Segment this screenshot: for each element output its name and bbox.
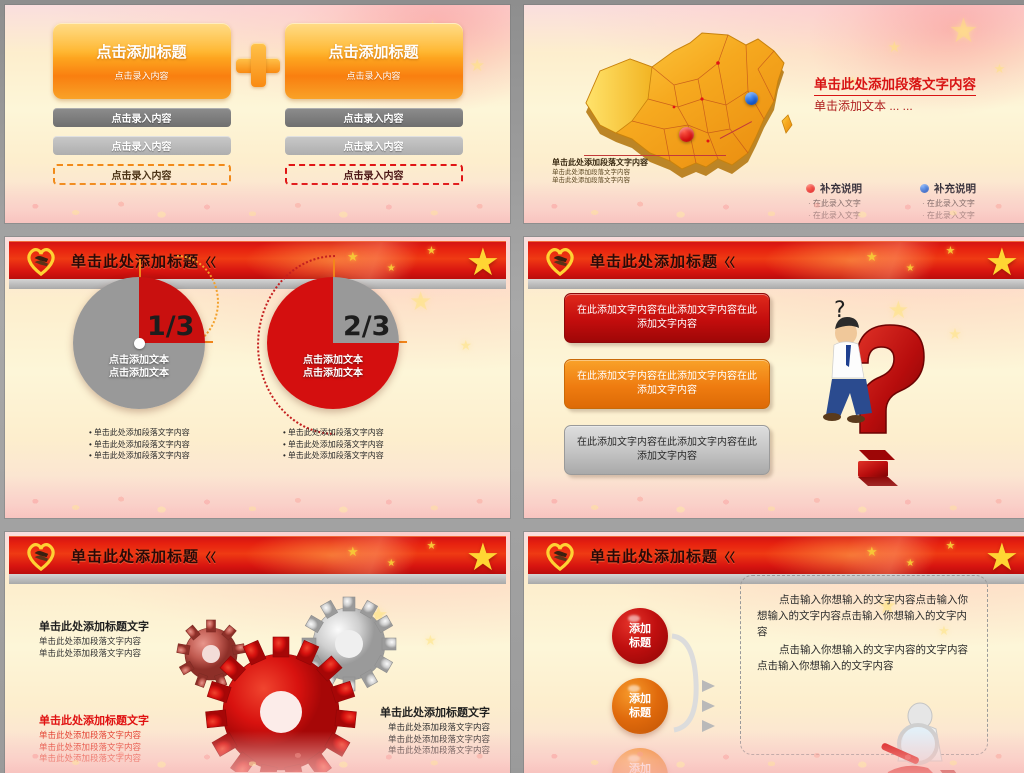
plus-icon: [236, 43, 280, 87]
column-subtitle: 点击录入内容: [114, 69, 168, 82]
question-row-3[interactable]: 在此添加文字内容在此添加文字内容在此添加文字内容: [564, 425, 770, 475]
blue-map-marker[interactable]: [745, 92, 758, 105]
column-row-2[interactable]: 点击录入内容: [53, 136, 231, 155]
pie-label: 点击添加文本 点击添加文本: [73, 354, 205, 380]
note-paragraph-2: 点击输入你想输入的文字内容的文字内容点击输入你想输入的文字内容: [757, 642, 971, 674]
pie-label: 点击添加文本 点击添加文本: [267, 354, 399, 380]
gears-icon: [153, 592, 413, 772]
banner-star-icon: ★: [985, 244, 1019, 279]
connector-curve: [670, 628, 710, 738]
banner-underbar: [9, 574, 506, 584]
businessman-on-question-mark-icon: ?: [816, 295, 966, 495]
pie-group-1[interactable]: 点击添加文本 点击添加文本 1/3 单击此处添加段落文字内容 单击此处添加段落文…: [73, 277, 205, 409]
question-text-rows: 在此添加文字内容在此添加文字内容在此添加文字内容 在此添加文字内容在此添加文字内…: [564, 293, 770, 491]
compare-column-left[interactable]: 点击添加标题 点击录入内容 点击录入内容 点击录入内容 点击录入内容: [53, 23, 231, 185]
legend-group-blue: 补充说明 在此录入文字 在此录入文字: [920, 181, 976, 222]
legend-item: 在此录入文字: [922, 210, 976, 221]
column-row-1[interactable]: 点击录入内容: [285, 108, 463, 127]
slide-deck-grid: ★ ★ ★ 点击添加标题 点击录入内容 点击录入内容 点击录入内容 点击录入内容…: [0, 0, 1024, 768]
legend-bullet-blue: [920, 184, 929, 193]
gear-text-block-top-left: 单击此处添加标题文字 单击此处添加段落文字内容 单击此处添加段落文字内容: [39, 618, 149, 659]
pie-bullet-list: 单击此处添加段落文字内容 单击此处添加段落文字内容 单击此处添加段落文字内容: [89, 427, 190, 462]
legend-item: 在此录入文字: [808, 210, 862, 221]
compare-column-right[interactable]: 点击添加标题 点击录入内容 点击录入内容 点击录入内容 点击录入内容: [285, 23, 463, 185]
map-callout-title: 单击此处添加段落文字内容: [552, 157, 648, 168]
note-paragraph-1: 点击输入你想输入的文字内容点击输入你想输入的文字内容点击输入你想输入的文字内容: [757, 592, 971, 640]
heart-hand-icon: [544, 540, 576, 571]
question-row-1[interactable]: 在此添加文字内容在此添加文字内容在此添加文字内容: [564, 293, 770, 343]
pie-bullet-list: 单击此处添加段落文字内容 单击此处添加段落文字内容 单击此处添加段落文字内容: [283, 427, 384, 462]
banner-underbar: [528, 279, 1024, 289]
column-header-right[interactable]: 点击添加标题 点击录入内容: [285, 23, 463, 99]
red-map-marker[interactable]: [679, 127, 694, 142]
map-headline: 单击此处添加段落文字内容: [814, 73, 976, 96]
banner-title: 单击此处添加标题〈〈: [590, 545, 734, 566]
pie-hub: [328, 338, 339, 349]
slide-china-map[interactable]: ★ ★ ★ ★: [524, 5, 1024, 223]
question-row-2[interactable]: 在此添加文字内容在此添加文字内容在此添加文字内容: [564, 359, 770, 409]
slide-banner: ★ ★ ★ ★ 单击此处添加标题〈〈: [9, 536, 506, 574]
map-legend: 补充说明 在此录入文字 在此录入文字 补充说明 在此录入文字 在此录入文字: [806, 181, 976, 222]
map-callout-body: 单击此处添加段落文字内容 单击此处添加段落文字内容: [552, 169, 630, 185]
pie-hub: [134, 338, 145, 349]
column-row-2[interactable]: 点击录入内容: [285, 136, 463, 155]
magnifier-person-icon: [874, 700, 984, 773]
slide-gears[interactable]: ★ ★ ★ ★ 单击此处添加标题〈〈 ★ ★: [5, 532, 510, 773]
circle-badge-2[interactable]: 添加标题: [612, 678, 668, 734]
map-subline: 单击添加文本 ... ...: [814, 97, 913, 114]
pie-fraction-value: 1/3: [147, 311, 194, 342]
compare-columns: 点击添加标题 点击录入内容 点击录入内容 点击录入内容 点击录入内容 点击添加标…: [45, 23, 470, 185]
gear-text-block-bottom-left: 单击此处添加标题文字 单击此处添加段落文字内容 单击此处添加段落文字内容 单击此…: [39, 712, 149, 765]
callout-leader-line: [584, 155, 726, 156]
slide-two-column-compare[interactable]: ★ ★ ★ 点击添加标题 点击录入内容 点击录入内容 点击录入内容 点击录入内容…: [5, 5, 510, 223]
legend-item: 在此录入文字: [808, 198, 862, 209]
banner-title: 单击此处添加标题〈〈: [590, 250, 734, 271]
legend-item: 在此录入文字: [922, 198, 976, 209]
pie-fraction-value: 2/3: [343, 311, 390, 342]
column-row-3[interactable]: 点击录入内容: [285, 164, 463, 185]
gear-text-block-bottom-right: 单击此处添加标题文字 单击此处添加段落文字内容 单击此处添加段落文字内容 单击此…: [380, 704, 490, 757]
heart-hand-icon: [25, 540, 57, 571]
circle-label: 添加标题: [629, 622, 651, 650]
pie-group-2[interactable]: 点击添加文本 点击添加文本 2/3 单击此处添加段落文字内容 单击此处添加段落文…: [267, 277, 399, 409]
legend-title: 补充说明: [806, 181, 862, 196]
legend-group-red: 补充说明 在此录入文字 在此录入文字: [806, 181, 862, 222]
circle-badge-3[interactable]: 添加标题: [612, 748, 668, 773]
banner-star-icon: ★: [466, 539, 500, 574]
slide-circles-note[interactable]: ★ ★ ★ ★ 单击此处添加标题〈〈 ★ ★ 添加标题 添加标题: [524, 532, 1024, 773]
slide-banner: ★ ★ ★ ★ 单击此处添加标题〈〈: [528, 241, 1024, 279]
column-title: 点击添加标题: [96, 41, 186, 62]
heart-hand-icon: [544, 245, 576, 276]
slide-question-mark[interactable]: ★ ★ ★ ★ 单击此处添加标题〈〈 ★ ★ ★ 在此添加文字内容在此添加文字内…: [524, 237, 1024, 518]
banner-title: 单击此处添加标题〈〈: [71, 545, 215, 566]
column-subtitle: 点击录入内容: [346, 69, 400, 82]
column-title: 点击添加标题: [328, 41, 418, 62]
pie-chart[interactable]: 点击添加文本 点击添加文本: [267, 277, 399, 409]
slide-banner: ★ ★ ★ ★ 单击此处添加标题〈〈: [528, 536, 1024, 574]
legend-bullet-red: [806, 184, 815, 193]
column-header-left[interactable]: 点击添加标题 点击录入内容: [53, 23, 231, 99]
pie-chart[interactable]: 点击添加文本 点击添加文本: [73, 277, 205, 409]
column-row-1[interactable]: 点击录入内容: [53, 108, 231, 127]
circle-label: 添加标题: [629, 692, 651, 720]
pie-chart-area: 点击添加文本 点击添加文本 1/3 单击此处添加段落文字内容 单击此处添加段落文…: [5, 237, 510, 518]
slide-pie-fractions[interactable]: ★ ★ ★ ★ 单击此处添加标题〈〈 ★ ★ ★: [5, 237, 510, 518]
circle-badge-1[interactable]: 添加标题: [612, 608, 668, 664]
column-row-3[interactable]: 点击录入内容: [53, 164, 231, 185]
legend-title: 补充说明: [920, 181, 976, 196]
banner-star-icon: ★: [985, 539, 1019, 574]
